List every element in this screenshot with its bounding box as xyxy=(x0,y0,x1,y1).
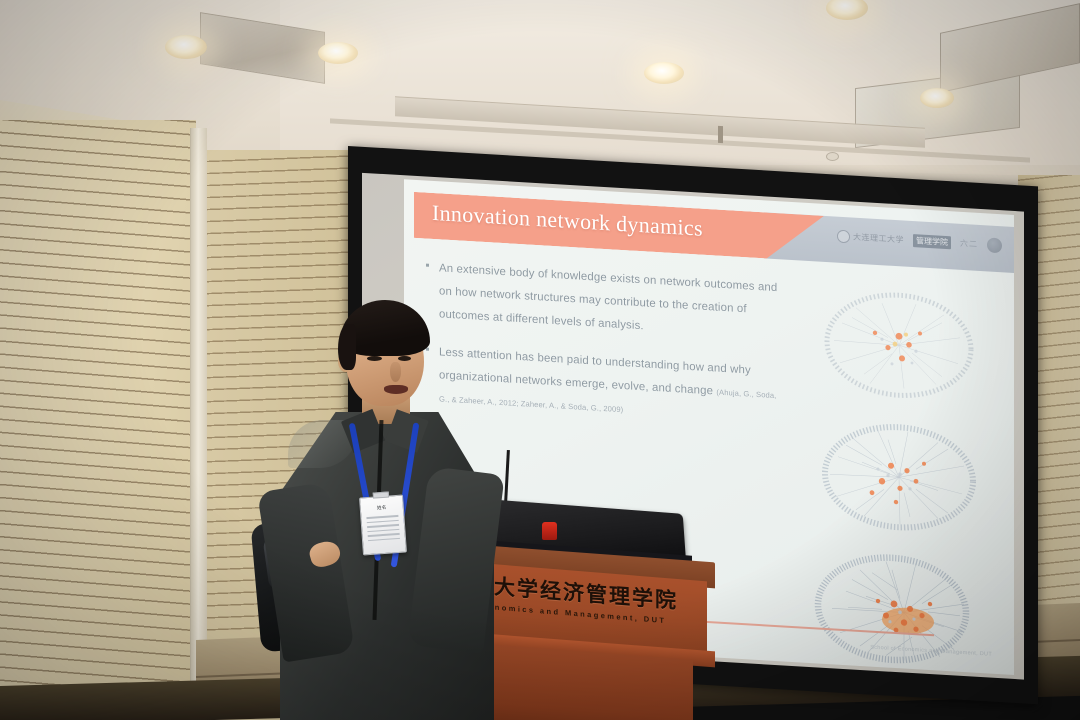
university-emblem-icon: 大连理工大学 xyxy=(837,230,904,247)
network-figure-column: c xyxy=(812,281,992,675)
presenter-eye-left xyxy=(367,356,382,361)
network-diagram-medium xyxy=(812,413,987,541)
bullet-dot-icon xyxy=(426,264,429,267)
badge-line xyxy=(366,515,398,519)
badge-line xyxy=(368,537,400,541)
badge-line xyxy=(368,533,400,537)
badge-line xyxy=(367,528,399,532)
presenter-eye-right xyxy=(398,356,411,361)
emblem-ring-icon xyxy=(837,230,850,244)
presenter: 姓名 xyxy=(258,300,508,720)
screen-mount-hook xyxy=(718,126,723,143)
partner-logo-label: 六二 xyxy=(960,238,978,250)
ceiling-downlight xyxy=(920,88,954,108)
presenter-nose xyxy=(390,362,401,382)
badge-line xyxy=(367,519,399,523)
wall-pillar xyxy=(190,128,207,720)
slat-wall-left xyxy=(0,120,196,720)
school-badge-label: 管理学院 xyxy=(913,234,951,249)
university-emblem-label: 大连理工大学 xyxy=(853,232,904,246)
circular-logo-icon xyxy=(987,237,1002,253)
badge-line xyxy=(367,524,399,528)
ceiling-downlight xyxy=(318,42,358,64)
badge-detail-lines xyxy=(366,515,400,541)
badge-name-text: 姓名 xyxy=(366,504,398,512)
presenter-hair-side xyxy=(338,324,356,370)
badge-clip-icon xyxy=(373,492,389,499)
ceiling-downlight xyxy=(165,35,207,59)
network-diagram-sparse xyxy=(812,281,987,409)
ceiling-downlight xyxy=(644,62,684,84)
smoke-detector xyxy=(826,152,839,161)
name-badge: 姓名 xyxy=(359,495,407,556)
presentation-room-photo: Innovation network dynamics 大连理工大学 管理学院 … xyxy=(0,0,1080,720)
presenter-mouth xyxy=(384,385,408,394)
